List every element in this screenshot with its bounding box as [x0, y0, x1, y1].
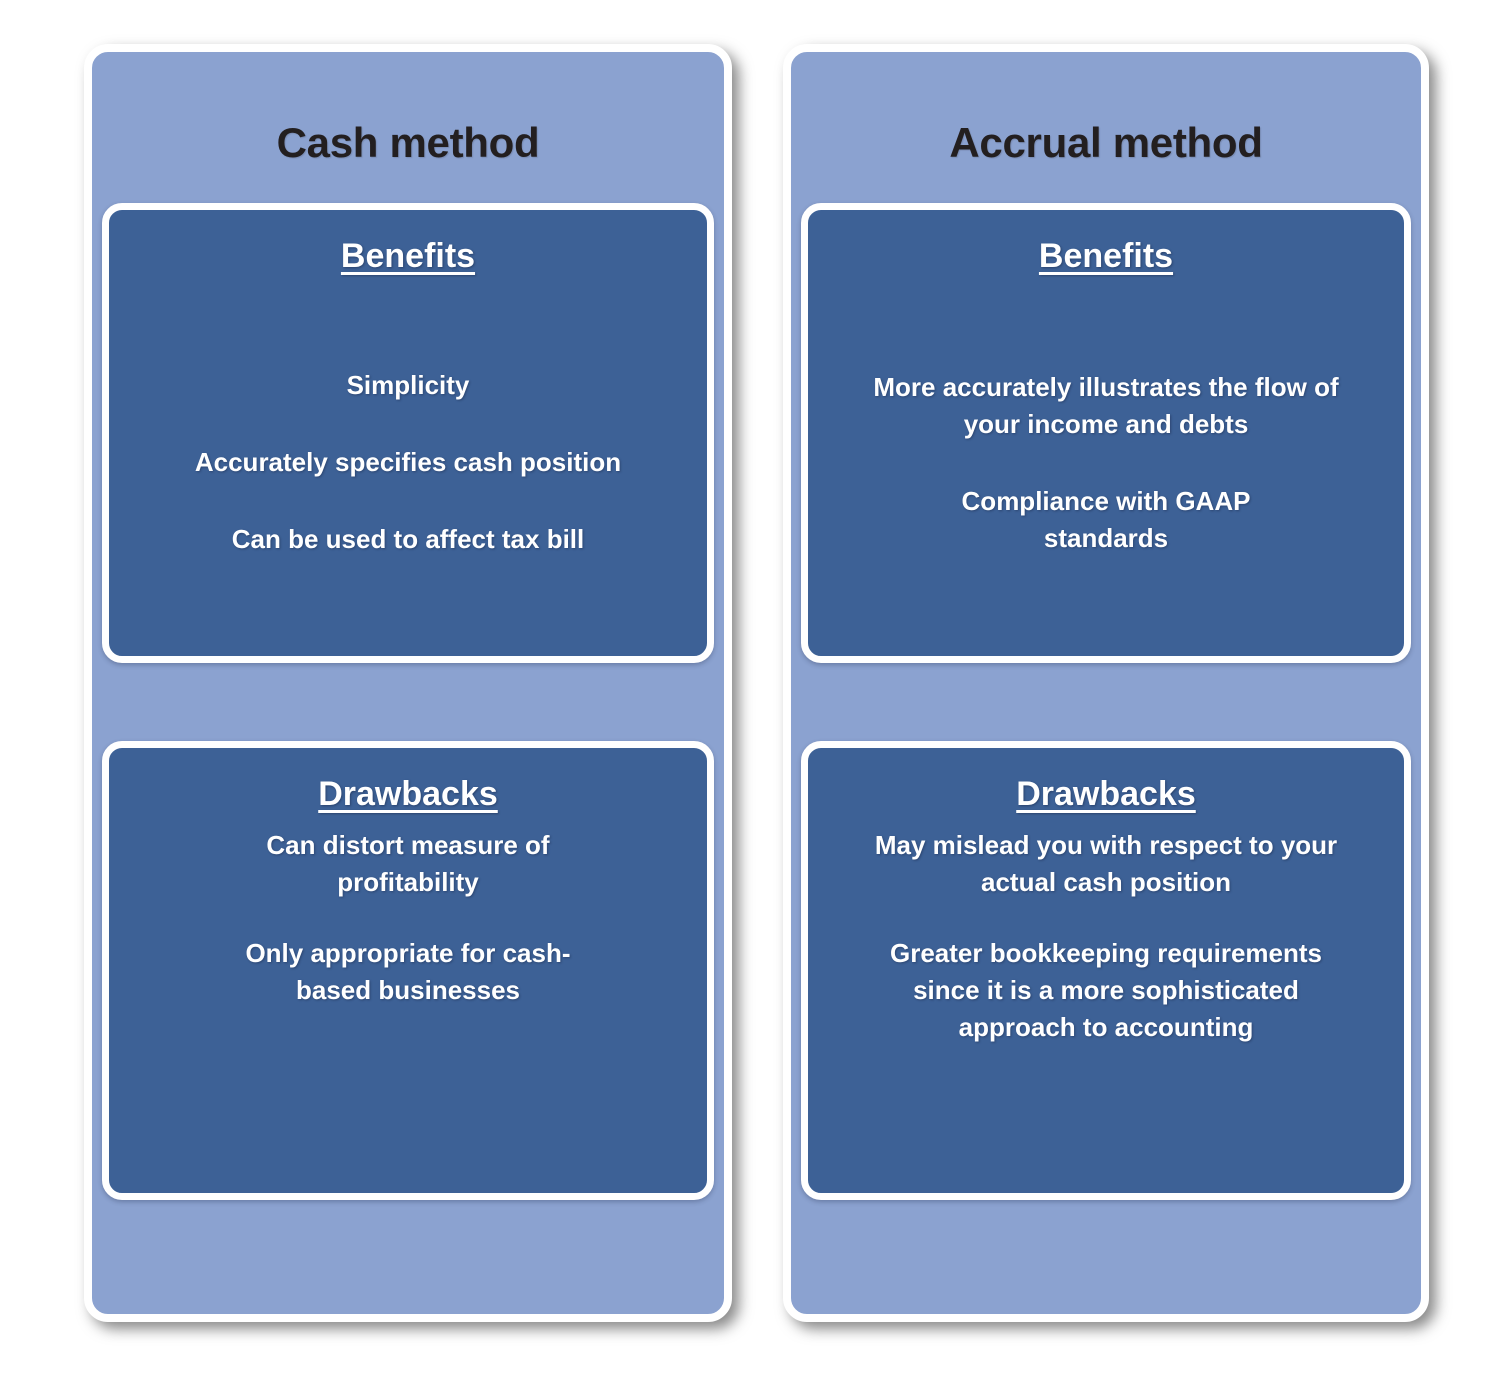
- card-cash-drawbacks: Drawbacks Can distort measure of profita…: [102, 741, 714, 1200]
- card-heading-cash-drawbacks: Drawbacks: [318, 748, 498, 813]
- list-item: More accurately illustrates the flow of …: [871, 369, 1341, 443]
- list-item: Can distort measure of profitability: [238, 827, 578, 901]
- list-item: May mislead you with respect to your act…: [866, 827, 1346, 901]
- cards-container-accrual: Benefits More accurately illustrates the…: [791, 164, 1421, 1314]
- list-item: Accurately specifies cash position: [195, 444, 621, 481]
- panel-title-cash: Cash method: [92, 52, 724, 164]
- card-body-accrual-drawbacks: May mislead you with respect to your act…: [808, 813, 1404, 1193]
- list-item: Greater bookkeeping requirements since i…: [871, 935, 1341, 1046]
- list-item: Can be used to affect tax bill: [232, 521, 585, 558]
- card-body-cash-benefits: Simplicity Accurately specifies cash pos…: [109, 275, 707, 656]
- cards-container-cash: Benefits Simplicity Accurately specifies…: [92, 164, 724, 1314]
- card-body-accrual-benefits: More accurately illustrates the flow of …: [808, 275, 1404, 656]
- card-cash-benefits: Benefits Simplicity Accurately specifies…: [102, 203, 714, 663]
- card-accrual-drawbacks: Drawbacks May mislead you with respect t…: [801, 741, 1411, 1200]
- card-heading-cash-benefits: Benefits: [341, 210, 475, 275]
- card-heading-accrual-benefits: Benefits: [1039, 210, 1173, 275]
- panel-title-accrual: Accrual method: [791, 52, 1421, 164]
- list-item: Compliance with GAAP standards: [926, 483, 1286, 557]
- diagram-canvas: Cash method Benefits Simplicity Accurate…: [0, 0, 1500, 1385]
- card-heading-accrual-drawbacks: Drawbacks: [1016, 748, 1196, 813]
- list-item: Simplicity: [347, 367, 470, 404]
- method-panel-cash: Cash method Benefits Simplicity Accurate…: [84, 44, 732, 1322]
- list-item: Only appropriate for cash-based business…: [213, 935, 603, 1009]
- method-panel-accrual: Accrual method Benefits More accurately …: [783, 44, 1429, 1322]
- card-body-cash-drawbacks: Can distort measure of profitability Onl…: [109, 813, 707, 1193]
- card-accrual-benefits: Benefits More accurately illustrates the…: [801, 203, 1411, 663]
